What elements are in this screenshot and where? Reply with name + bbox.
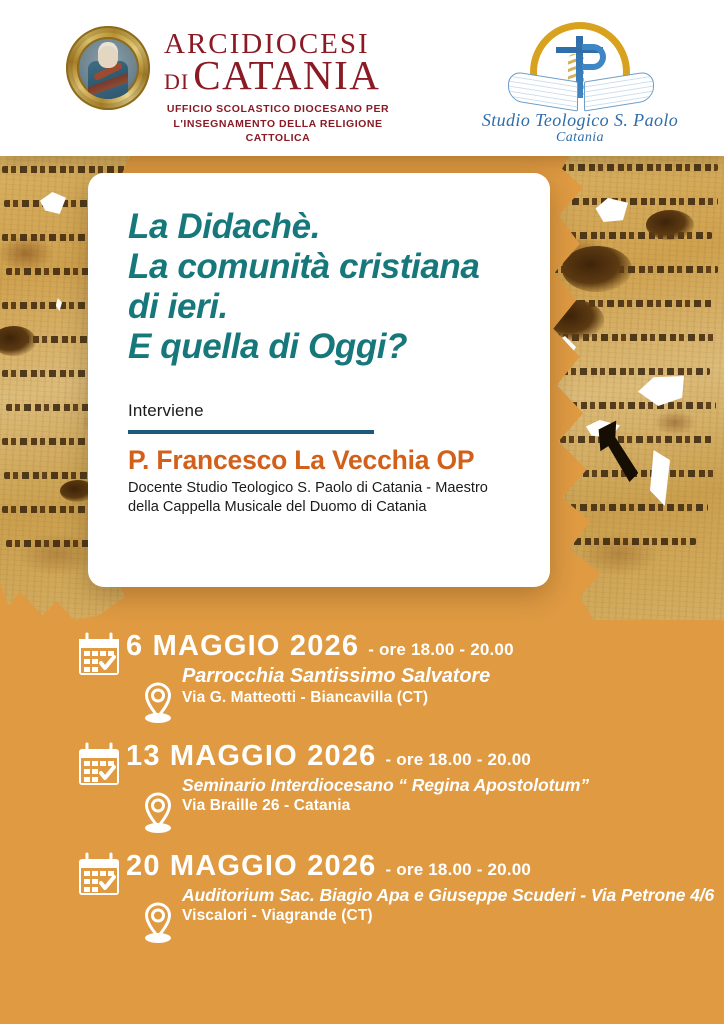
location-pin-icon — [138, 790, 178, 834]
papyrus-stain — [562, 246, 632, 292]
diocese-subtitle-line-2: L'INSEGNAMENTO DELLA RELIGIONE CATTOLICA — [164, 117, 392, 145]
logo-word-di: DI — [164, 69, 189, 94]
event-address: Via Braille 26 - Catania — [182, 797, 724, 815]
event-time: - ore 18.00 - 20.00 — [386, 860, 532, 880]
event-schedule-list: 6 MAGGIO 2026 - ore 18.00 - 20.00 Parroc… — [0, 630, 724, 960]
interviene-label: Interviene — [128, 401, 514, 421]
event-venue: Auditorium Sac. Biagio Apa e Giuseppe Sc… — [182, 885, 724, 906]
main-content-card: La Didachè. La comunità cristiana di ier… — [88, 173, 550, 587]
title-line-3: di ieri. — [128, 287, 514, 327]
title-line-1: La Didachè. — [128, 207, 514, 247]
divider-rule — [128, 430, 374, 434]
logo-word-catania: CATANIA — [193, 52, 380, 98]
sword-p-monogram-open-book-icon — [500, 20, 660, 108]
event-date: 13 MAGGIO 2026 — [126, 740, 377, 773]
title-line-2: La comunità cristiana — [128, 247, 514, 287]
speaker-role: Docente Studio Teologico S. Paolo di Cat… — [128, 479, 514, 518]
studio-teologico-logo: Studio Teologico S. Paolo Catania — [480, 20, 680, 146]
arcidiocesi-logo: ARCIDIOCESI DI CATANIA UFFICIO SCOLASTIC… — [66, 26, 392, 145]
event-venue: Parrocchia Santissimo Salvatore — [182, 665, 724, 688]
poster-header: ARCIDIOCESI DI CATANIA UFFICIO SCOLASTIC… — [0, 0, 724, 156]
event-address: Via G. Matteotti - Biancavilla (CT) — [182, 689, 724, 707]
speaker-name: P. Francesco La Vecchia OP — [128, 445, 514, 476]
papyrus-fragment-right — [548, 150, 724, 620]
studio-logo-city: Catania — [480, 130, 680, 146]
papyrus-stain — [646, 210, 694, 240]
diocese-subtitle-line-1: UFFICIO SCOLASTICO DIOCESANO PER — [164, 102, 392, 116]
event-poster: ARCIDIOCESI DI CATANIA UFFICIO SCOLASTIC… — [0, 0, 724, 1024]
event-item: 20 MAGGIO 2026 - ore 18.00 - 20.00 Audit… — [0, 850, 724, 954]
event-date: 6 MAGGIO 2026 — [126, 630, 359, 663]
open-book-icon — [508, 76, 654, 108]
event-time: - ore 18.00 - 20.00 — [368, 640, 514, 660]
event-date: 20 MAGGIO 2026 — [126, 850, 377, 883]
studio-logo-title: Studio Teologico S. Paolo — [480, 110, 680, 130]
saint-agatha-seal-icon — [66, 26, 150, 110]
location-pin-icon — [138, 680, 178, 724]
greek-script-lines-right — [548, 150, 724, 620]
event-item: 6 MAGGIO 2026 - ore 18.00 - 20.00 Parroc… — [0, 630, 724, 734]
title-line-4: E quella di Oggi? — [128, 327, 514, 367]
location-pin-icon — [138, 900, 178, 944]
papyrus-stain — [546, 300, 604, 340]
event-address: Viscalori - Viagrande (CT) — [182, 907, 724, 925]
event-item: 13 MAGGIO 2026 - ore 18.00 - 20.00 Semin… — [0, 740, 724, 844]
poster-title: La Didachè. La comunità cristiana di ier… — [128, 207, 514, 367]
event-time: - ore 18.00 - 20.00 — [386, 750, 532, 770]
event-venue: Seminario Interdiocesano “ Regina Aposto… — [182, 775, 724, 796]
